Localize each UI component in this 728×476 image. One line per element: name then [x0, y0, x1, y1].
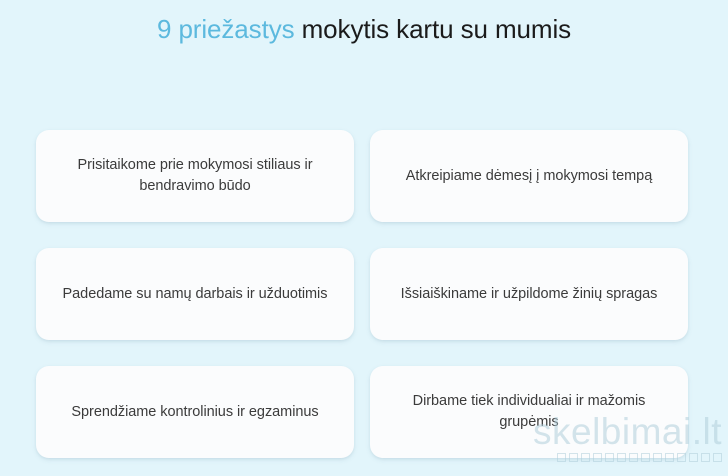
benefit-card-text: Dirbame tiek individualiai ir mažomis gr…	[392, 391, 666, 433]
page-title-heading: 9 priežastys mokytis kartu su mumis	[0, 10, 728, 48]
watermark-square	[713, 453, 722, 462]
page-title-accent: 9 priežastys	[157, 14, 295, 44]
page-title-rest: mokytis kartu su mumis	[295, 14, 572, 44]
watermark-square	[701, 453, 710, 462]
benefit-card: Dirbame tiek individualiai ir mažomis gr…	[370, 366, 688, 458]
benefit-card-text: Prisitaikome prie mokymosi stiliaus ir b…	[58, 155, 332, 197]
benefit-card-text: Sprendžiame kontrolinius ir egzaminus	[71, 402, 318, 423]
benefit-card-text: Atkreipiame dėmesį į mokymosi tempą	[406, 166, 652, 187]
benefit-card-grid: Prisitaikome prie mokymosi stiliaus ir b…	[36, 130, 688, 458]
watermark-square	[689, 453, 698, 462]
benefit-card-text: Išsiaiškiname ir užpildome žinių spragas	[401, 284, 658, 305]
benefit-card: Išsiaiškiname ir užpildome žinių spragas	[370, 248, 688, 340]
benefit-card: Sprendžiame kontrolinius ir egzaminus	[36, 366, 354, 458]
benefit-card: Atkreipiame dėmesį į mokymosi tempą	[370, 130, 688, 222]
promo-page: 9 priežastys mokytis kartu su mumis Pris…	[0, 0, 728, 476]
benefit-card-text: Padedame su namų darbais ir užduotimis	[63, 284, 328, 305]
page-title: 9 priežastys mokytis kartu su mumis	[0, 10, 728, 48]
benefit-card: Padedame su namų darbais ir užduotimis	[36, 248, 354, 340]
benefit-card: Prisitaikome prie mokymosi stiliaus ir b…	[36, 130, 354, 222]
